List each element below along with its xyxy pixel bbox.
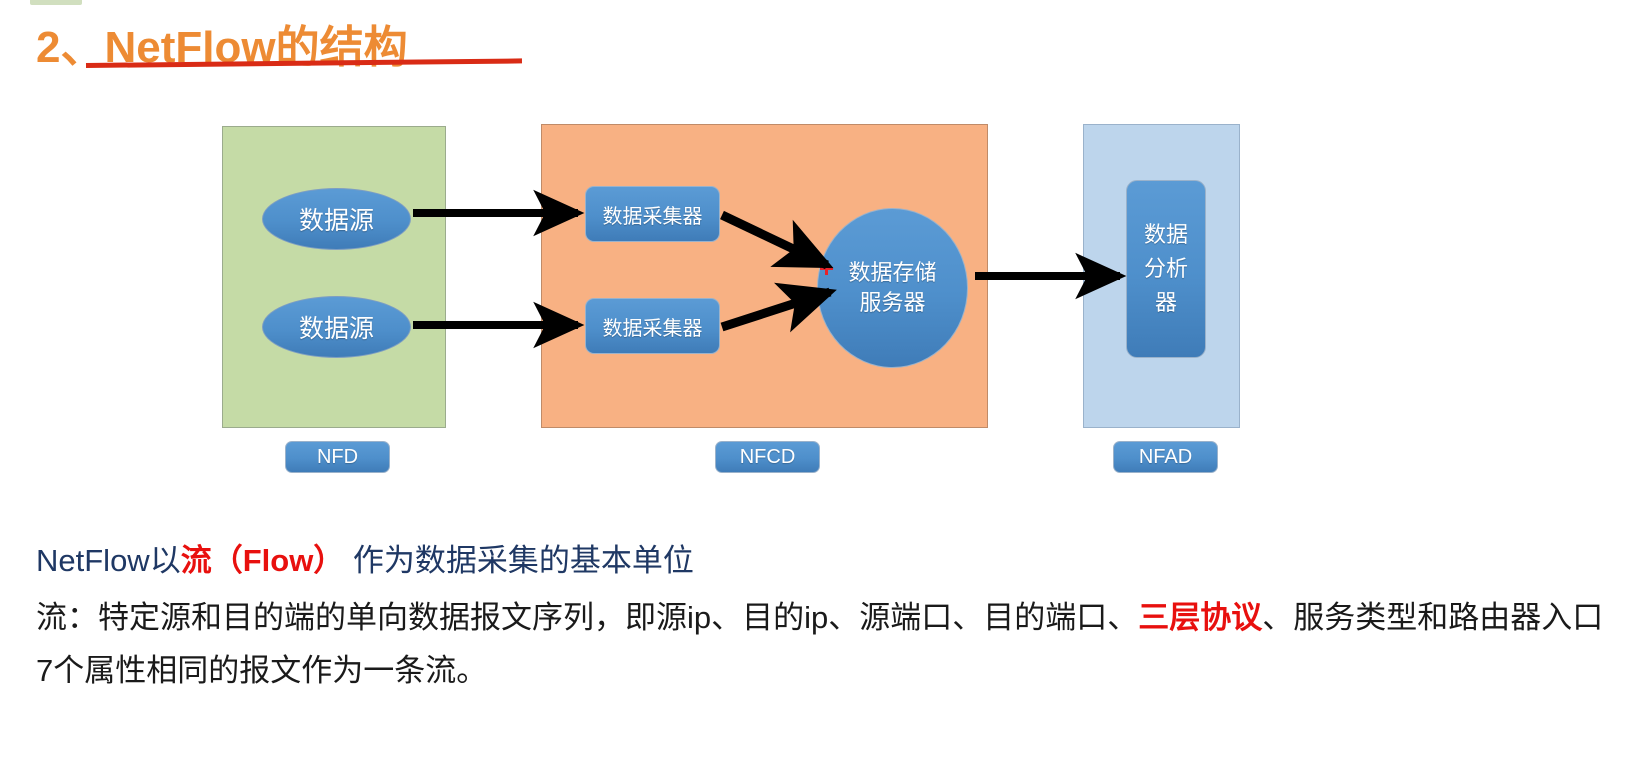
zone-nfd xyxy=(222,126,446,428)
zone-caption-label: NFD xyxy=(317,446,358,469)
node-label: 数据采集器 xyxy=(603,312,703,341)
body-para2-part-a: 流：特定源和目的端的单向数据报文序列，即源ip、目的ip、源端口、目的端口、 xyxy=(36,600,1138,635)
node-data-source-1[interactable]: 数据源 xyxy=(262,188,411,250)
slide-body-text: NetFlow以流（Flow） 作为数据采集的基本单位 流：特定源和目的端的单向… xyxy=(36,533,1616,697)
node-label-line-2: 分析 xyxy=(1144,252,1188,286)
zone-caption-label: NFCD xyxy=(740,446,796,469)
node-label-line-1: 数据存储 xyxy=(848,258,936,288)
body-paragraph-2: 流：特定源和目的端的单向数据报文序列，即源ip、目的ip、源端口、目的端口、三层… xyxy=(36,591,1616,697)
node-label: 数据源 xyxy=(299,309,374,345)
node-label: 数据源 xyxy=(299,201,374,237)
node-label-line-3: 器 xyxy=(1155,286,1177,320)
zone-caption-nfad[interactable]: NFAD xyxy=(1113,441,1218,473)
zone-caption-nfcd[interactable]: NFCD xyxy=(715,441,820,473)
node-data-analyzer[interactable]: 数据 分析 器 xyxy=(1126,180,1206,358)
node-data-collector-1[interactable]: 数据采集器 xyxy=(585,186,720,242)
zone-caption-label: NFAD xyxy=(1139,446,1192,469)
node-label: 数据采集器 xyxy=(603,200,703,229)
body-line-1-part-c: 作为数据采集的基本单位 xyxy=(344,543,694,578)
netflow-architecture-diagram: 数据源 数据源 数据采集器 数据采集器 数据存储 服务器 数据 分析 器 xyxy=(0,0,1645,500)
node-data-storage-server[interactable]: 数据存储 服务器 xyxy=(817,208,968,368)
node-data-source-2[interactable]: 数据源 xyxy=(262,296,411,358)
node-label-line-2: 服务器 xyxy=(859,288,925,318)
body-line-1-part-a: NetFlow以 xyxy=(36,543,181,578)
body-line-1-highlight: 流（Flow） xyxy=(181,543,345,578)
body-line-1: NetFlow以流（Flow） 作为数据采集的基本单位 xyxy=(36,533,1616,589)
zone-caption-nfd[interactable]: NFD xyxy=(285,441,390,473)
node-label-line-1: 数据 xyxy=(1144,218,1188,252)
node-data-collector-2[interactable]: 数据采集器 xyxy=(585,298,720,354)
body-para2-highlight: 三层协议 xyxy=(1138,600,1262,635)
